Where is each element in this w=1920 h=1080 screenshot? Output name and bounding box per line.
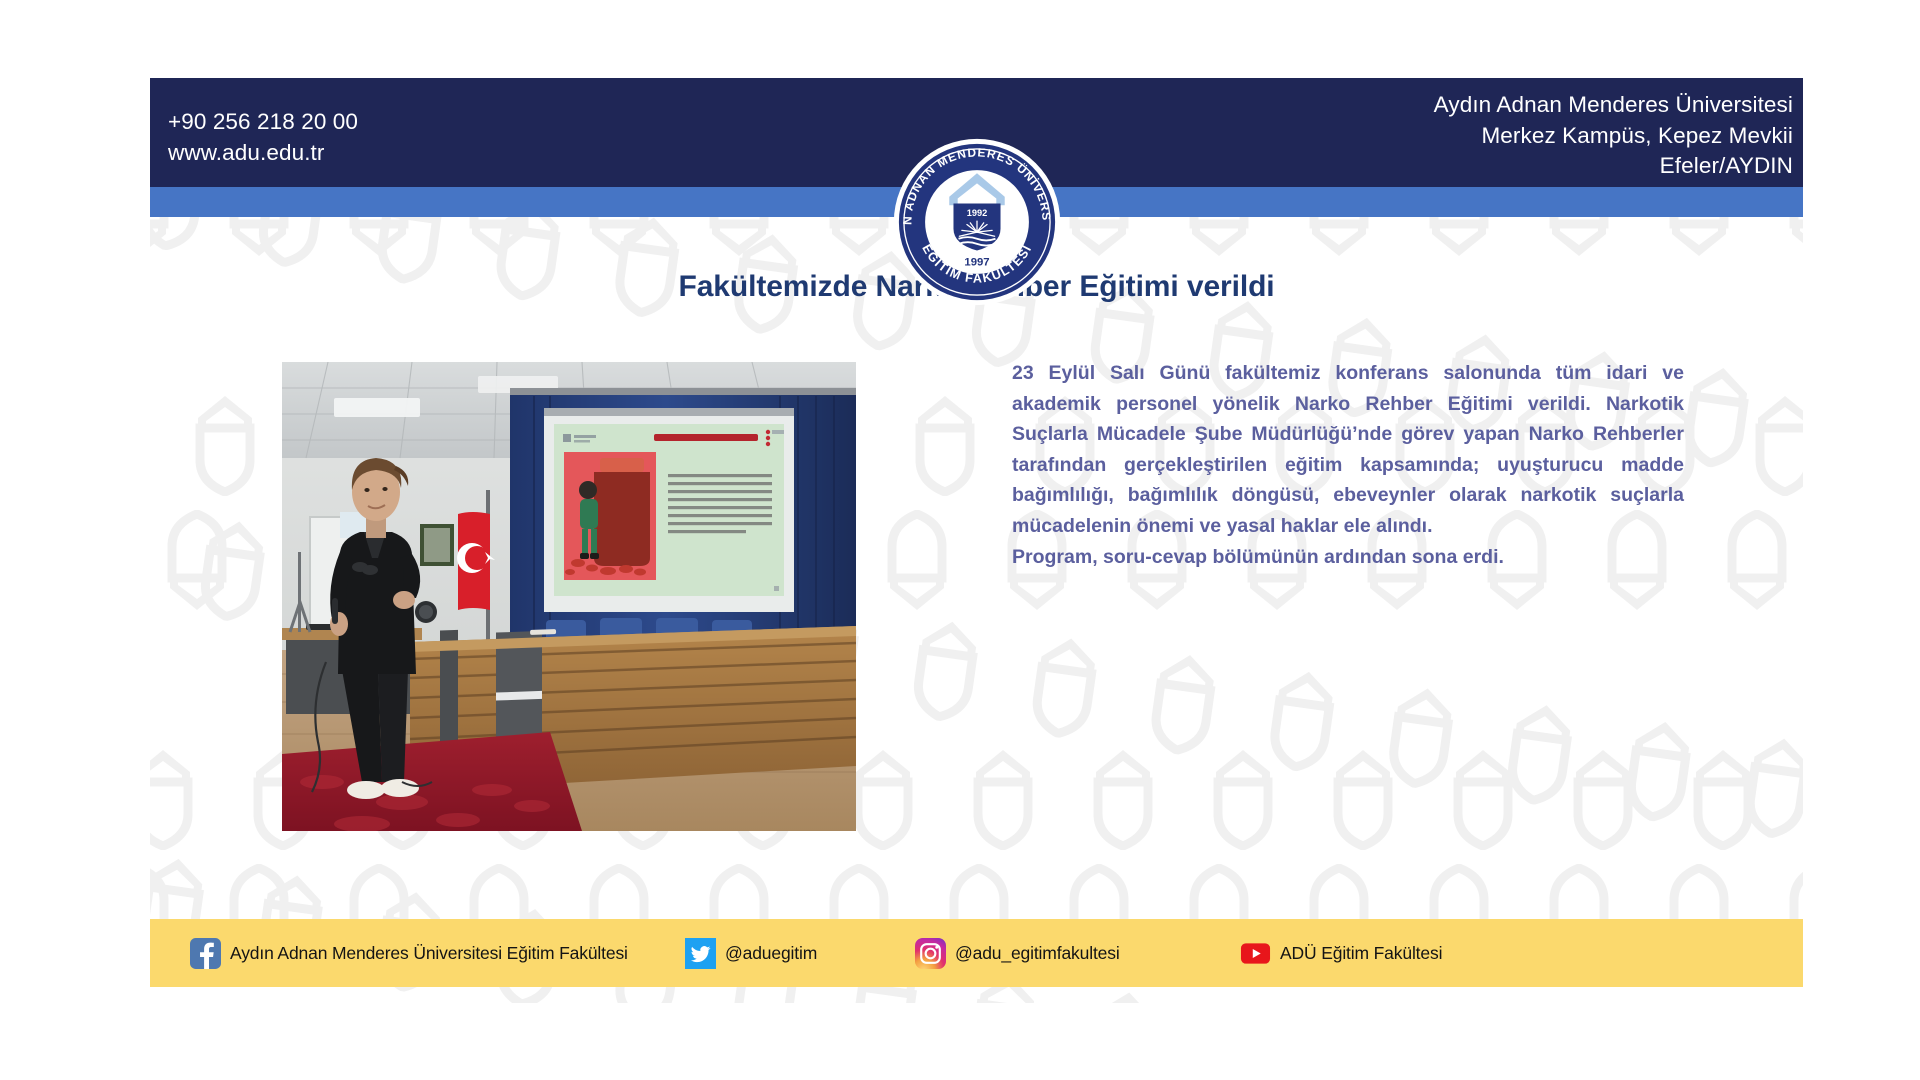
header-address-block: Aydın Adnan Menderes Üniversitesi Merkez…	[1434, 90, 1793, 182]
social-link-facebook[interactable]: Aydın Adnan Menderes Üniversitesi Eğitim…	[190, 938, 628, 969]
poster-canvas: +90 256 218 20 00 www.adu.edu.tr Aydın A…	[150, 78, 1803, 1003]
article-paragraph-2: Program, soru-cevap bölümünün ardından s…	[1012, 542, 1684, 573]
svg-text:1992: 1992	[966, 208, 987, 218]
photo-illustration	[282, 362, 856, 831]
conference-hall-presentation-photo	[282, 362, 856, 831]
header-address-line1: Aydın Adnan Menderes Üniversitesi	[1434, 90, 1793, 121]
header-address-line3: Efeler/AYDIN	[1434, 151, 1793, 182]
header-contact-block: +90 256 218 20 00 www.adu.edu.tr	[168, 106, 358, 168]
header-website[interactable]: www.adu.edu.tr	[168, 137, 358, 168]
university-seal-logo: AYDIN ADNAN MENDERES ÜNİVERSİTESİ EĞİTİM…	[893, 138, 1061, 306]
social-label-twitter: @aduegitim	[725, 943, 817, 964]
social-link-youtube[interactable]: ADÜ Eğitim Fakültesi	[1240, 938, 1442, 969]
article-paragraph-1: 23 Eylül Salı Günü fakültemiz konferans …	[1012, 358, 1684, 542]
seal-icon: AYDIN ADNAN MENDERES ÜNİVERSİTESİ EĞİTİM…	[893, 138, 1061, 306]
social-link-twitter[interactable]: @aduegitim	[685, 938, 817, 969]
content-area: 23 Eylül Salı Günü fakültemiz konferans …	[150, 328, 1803, 888]
social-label-facebook: Aydın Adnan Menderes Üniversitesi Eğitim…	[230, 943, 628, 964]
social-footer-bar: Aydın Adnan Menderes Üniversitesi Eğitim…	[150, 919, 1803, 987]
watermark-shield-icon	[1192, 999, 1292, 1003]
social-label-youtube: ADÜ Eğitim Fakültesi	[1280, 943, 1442, 964]
header-address-line2: Merkez Kampüs, Kepez Mevkii	[1434, 121, 1793, 152]
svg-text:1997: 1997	[964, 257, 989, 269]
social-link-instagram[interactable]: @adu_egitimfakultesi	[915, 938, 1120, 969]
twitter-icon[interactable]	[685, 938, 716, 969]
article-body: 23 Eylül Salı Günü fakültemiz konferans …	[1012, 358, 1684, 572]
facebook-icon[interactable]	[190, 938, 221, 969]
social-label-instagram: @adu_egitimfakultesi	[955, 943, 1120, 964]
header-phone: +90 256 218 20 00	[168, 106, 358, 137]
instagram-icon[interactable]	[915, 938, 946, 969]
watermark-shield-icon	[597, 208, 697, 323]
youtube-icon[interactable]	[1240, 938, 1271, 969]
